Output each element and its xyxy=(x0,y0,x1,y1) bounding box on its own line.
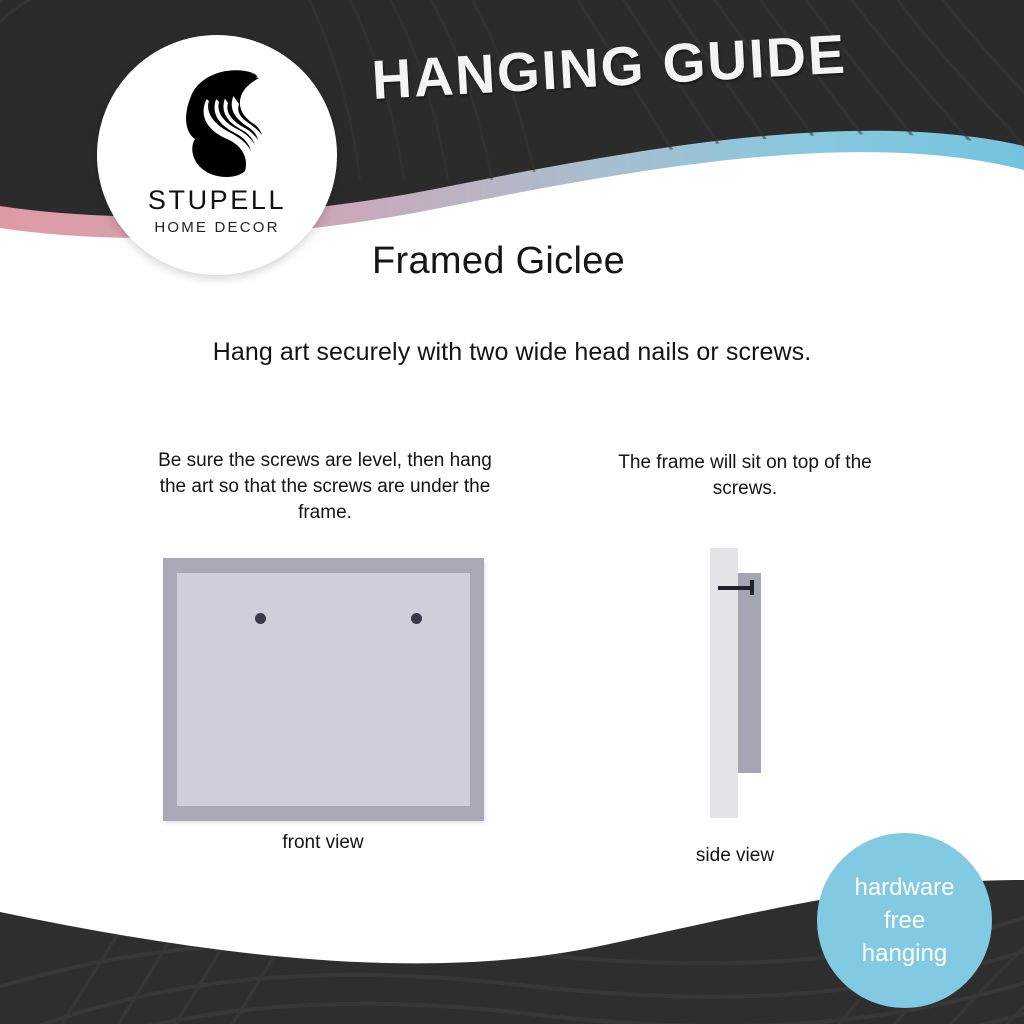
side-view-frame-edge xyxy=(738,573,761,773)
front-view-art-panel xyxy=(177,573,470,806)
side-view-caption: The frame will sit on top of the screws. xyxy=(600,450,890,502)
screw-dot-left xyxy=(255,613,266,624)
side-view-label: side view xyxy=(640,845,830,867)
nail-shaft-icon xyxy=(718,586,754,590)
badge-line-2: free xyxy=(884,904,925,937)
front-view-label: front view xyxy=(190,832,456,854)
badge-line-3: hanging xyxy=(862,937,947,970)
brand-name: STUPELL xyxy=(148,185,286,216)
front-view-caption: Be sure the screws are level, then hang … xyxy=(150,448,500,526)
badge-line-1: hardware xyxy=(854,871,954,904)
hardware-free-hanging-badge: hardware free hanging xyxy=(817,833,992,1008)
hanging-guide-page: STUPELL HOME DECOR HANGING GUIDE Framed … xyxy=(0,0,1024,1024)
screw-dot-right xyxy=(411,613,422,624)
nail-head-icon xyxy=(750,580,754,595)
stupell-swirl-logo-icon xyxy=(157,59,277,179)
product-type-subtitle: Framed Giclee xyxy=(372,240,625,283)
intro-instruction: Hang art securely with two wide head nai… xyxy=(0,338,1024,367)
brand-logo-badge: STUPELL HOME DECOR xyxy=(97,35,337,275)
brand-tagline: HOME DECOR xyxy=(154,219,279,236)
front-view-illustration xyxy=(163,558,484,821)
diagram-area: Be sure the screws are level, then hang … xyxy=(0,440,1024,880)
